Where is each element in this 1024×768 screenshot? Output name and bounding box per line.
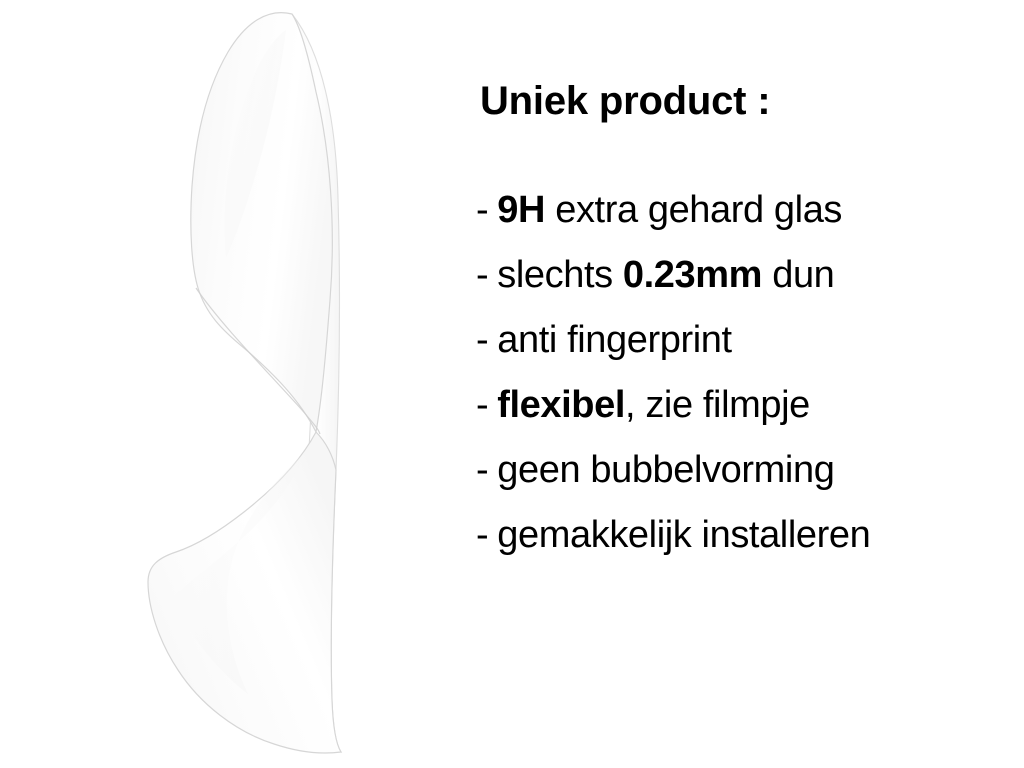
feature-text: extra gehard glas [545,189,842,231]
list-item: -9H extra gehard glas [476,178,1024,243]
page-title: Uniek product : [480,79,770,124]
feature-list: -9H extra gehard glas -slechts 0.23mm du… [476,178,1024,568]
list-item: -slechts 0.23mm dun [476,243,1024,308]
feature-text: , zie filmpje [625,384,810,426]
bullet-dash: - [476,243,488,308]
feature-text-strong: flexibel [497,384,625,426]
bullet-dash: - [476,503,488,568]
list-item: -flexibel, zie filmpje [476,373,1024,438]
bullet-dash: - [476,308,488,373]
bullet-dash: - [476,373,488,438]
feature-text-strong: 9H [497,189,545,231]
glass-lower-lobe [148,432,341,753]
list-item: -geen bubbelvorming [476,438,1024,503]
feature-text: geen bubbelvorming [497,449,834,491]
feature-text-strong: 0.23mm [623,254,762,296]
bullet-dash: - [476,178,488,243]
feature-text: gemakkelijk installeren [497,514,870,556]
feature-text: slechts [497,254,623,296]
product-infographic: Uniek product : -9H extra gehard glas -s… [0,0,1024,768]
product-text-panel: Uniek product : -9H extra gehard glas -s… [470,0,1024,768]
list-item: -gemakkelijk installeren [476,503,1024,568]
list-item: -anti fingerprint [476,308,1024,373]
feature-text: dun [762,254,834,296]
feature-text: anti fingerprint [497,319,731,361]
product-image-tempered-glass [0,0,460,768]
bullet-dash: - [476,438,488,503]
